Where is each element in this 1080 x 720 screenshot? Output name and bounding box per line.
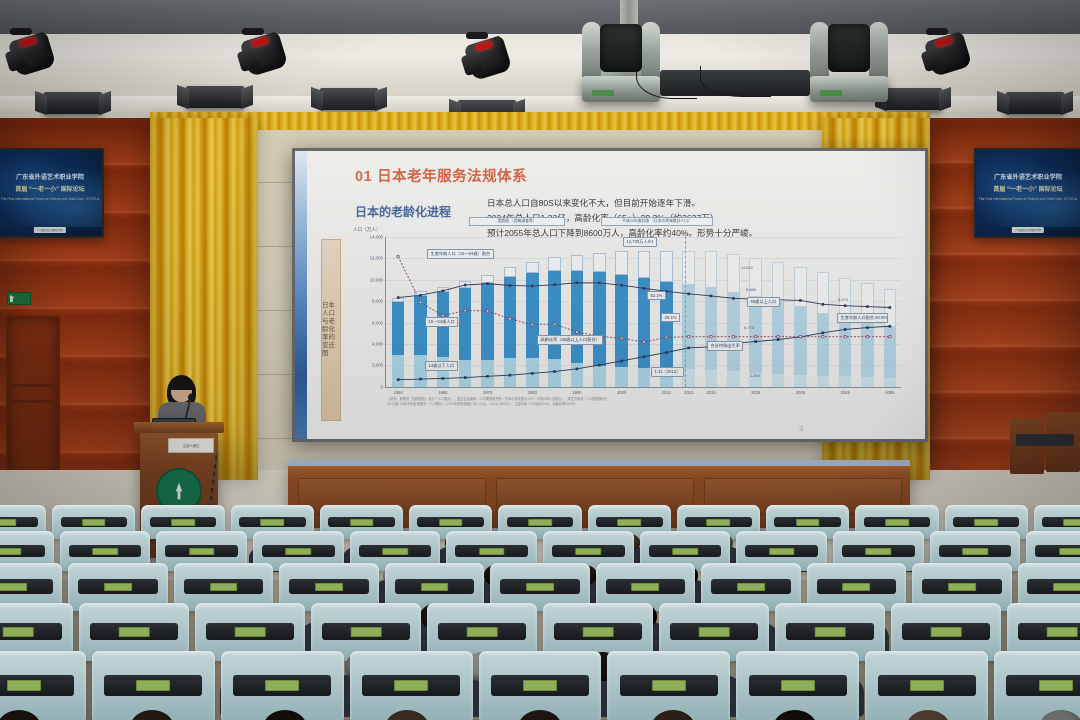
value-total-population: 12,730万人※1 [623,237,657,247]
seat-number-plate [265,680,299,691]
chart-data-point [821,335,824,338]
y-tick: 12,000 [351,256,383,261]
chart-y-axis-label: 人口（万人） [353,227,381,233]
seat-number-plate [171,519,195,525]
seat-number-plate [286,548,312,555]
chart-data-point [844,304,847,307]
x-tick: 1970 [483,390,492,395]
chart-data-point [821,332,824,335]
chart-data-point [598,282,601,285]
chart-data-point [643,355,646,358]
seat-number-plate [523,680,557,691]
seat-number-plate [931,627,962,637]
chart-data-point [665,351,668,354]
slide-subtitle: 日本的老龄化进程 [355,203,451,220]
stage-spotlight [238,28,290,84]
chart-data-point [732,335,735,338]
seat-number-plate [92,548,118,555]
chart-data-point [464,309,467,312]
chart-data-point [397,255,400,258]
value-working-ratio-2055: 生産年齢人口割合 50.9% [837,313,888,323]
seat-number-plate [0,519,16,525]
seat-number-plate [260,519,284,525]
seat-number-plate [315,583,343,591]
chart-data-point [419,294,422,297]
chart-data-point [643,287,646,290]
barn-door-light [186,86,244,108]
curtain-valance [150,112,930,130]
seat-number-plate [189,548,215,555]
y-tick: 8,000 [351,299,383,304]
x-tick: 2035 [796,390,805,395]
exit-sign-icon [7,292,31,305]
x-tick: 2025 [751,390,760,395]
chart-data-point [598,364,601,367]
seat-number-plate [104,583,132,591]
chart-data-point [754,340,757,343]
slide-accent-bar [295,151,307,439]
chart-data-point [442,377,445,380]
callout-under14-pop: 14歳以下人口 [425,361,458,371]
bracket-actual: 実績値 （国勢調査等） [469,217,565,226]
x-tick: 1960 [438,390,447,395]
seat-number-plate [467,627,498,637]
seat-number-plate [0,548,21,555]
side-display-left[interactable]: 广东省外语艺术职业学院 首届 “一老一小” 国际论坛 The First Int… [0,148,104,238]
chart-data-point [777,338,780,341]
auditorium-scene: 广东省外语艺术职业学院 首届 “一老一小” 国际论坛 The First Int… [0,0,1080,720]
chart-series-line [398,257,890,342]
chart-data-point [553,283,556,286]
chart-data-point [486,375,489,378]
chart-data-point [442,290,445,293]
seat-number-plate [439,519,463,525]
seat-number-plate [974,519,998,525]
population-chart: 人口（万人） 14,000 12,000 10,000 8,000 6,000 … [351,231,907,427]
display-english-title: The First International Forum on Elderly… [0,197,102,201]
seat-number-plate [948,583,976,591]
barn-door-light [320,88,378,110]
side-chair [1010,418,1044,474]
chart-data-point [799,335,802,338]
seat-number-plate [350,519,374,525]
x-tick: 2055 [885,390,894,395]
seat-number-plate [699,627,730,637]
x-tick: 1980 [528,390,537,395]
chart-data-point [531,323,534,326]
value-6773: 6,773 [744,325,754,330]
seat-number-plate [526,583,554,591]
chart-data-point [397,296,400,299]
seat-number-plate [1059,548,1080,555]
seat-number-plate [1039,680,1073,691]
chart-data-point [397,378,400,381]
display-title: 广东省外语艺术职业学院 [0,172,102,181]
seat-number-plate [672,548,698,555]
slide-title: 01日本老年服务法规体系 [355,165,527,186]
display-badge: 广东省外语艺术职业学院 [34,227,66,233]
side-table [1016,434,1074,446]
footnote-line: ※1 出典 平成25年度 総務省「人口推計」（2010年国勢調査においては、人口… [387,402,609,407]
seat-number-plate [781,680,815,691]
chart-data-point [620,284,623,287]
seat-number-plate [1064,519,1080,525]
seat-number-plate [737,583,765,591]
body-line: 日本总人口自80S以来变化不大，但目前开始逐年下滑。 [487,196,757,211]
side-door[interactable] [6,316,60,488]
chart-data-point [889,335,892,338]
seat-number-plate [7,680,41,691]
seat-number-plate [421,583,449,591]
seat-number-plate [866,548,892,555]
chart-data-point [553,323,556,326]
chart-data-point [844,328,847,331]
chart-data-point [710,335,713,338]
chart-data-point [665,336,668,339]
seat-number-plate [3,627,34,637]
chart-data-point [799,299,802,302]
chart-data-point [889,306,892,309]
barn-door-light [884,88,942,110]
vertical-caption-text: 日本人口与老龄化率的变迁图 [322,302,340,357]
x-tick: 2013 [684,390,693,395]
seat-number-plate [815,627,846,637]
seat-number-plate [707,519,731,525]
chart-data-point [866,326,869,329]
seat-number-plate [1047,627,1078,637]
display-title: 广东省外语艺术职业学院 [976,172,1080,181]
callout-fertility-rate: 合計特殊出生率 [707,341,743,351]
chart-data-point [732,297,735,300]
x-tick: 1950 [394,390,403,395]
callout-aging-rate: 高齢化率（65歳以上人口割合） [537,335,603,345]
y-tick: 10,000 [351,277,383,282]
chart-data-point [866,305,869,308]
chart-data-point [576,368,579,371]
chart-data-point [464,376,467,379]
podium-nameplate: 主讲人席位 [168,438,214,453]
display-english-title: The First International Forum on Elderly… [976,197,1080,201]
value-8674: 8,674 [838,297,848,302]
chart-data-point [710,295,713,298]
seat-number-plate [479,548,505,555]
projection-screen[interactable]: 01日本老年服务法规体系 日本的老龄化进程 日本总人口自80S以来变化不大，但目… [292,148,928,442]
value-fertility-2012: 1.41（2012） [651,367,684,377]
chart-data-point [419,301,422,304]
x-tick: 2010 [662,390,671,395]
slide-page-number: 3 [799,426,803,433]
seat-number-plate [351,627,382,637]
chart-data-point [531,372,534,375]
chart-data-point [821,303,824,306]
value-5680: 5,680 [746,287,756,292]
chart-data-point [486,310,489,313]
y-tick: 0 [351,385,383,390]
audience-seat[interactable] [994,651,1080,720]
chart-data-point [620,337,623,340]
y-tick: 4,000 [351,342,383,347]
y-tick: 2,000 [351,363,383,368]
seat-number-plate [528,519,552,525]
seat-number-plate [885,519,909,525]
y-tick: 6,000 [351,320,383,325]
slide-title-text: 日本老年服务法规体系 [377,169,527,185]
chart-data-point [620,360,623,363]
chart-data-point [687,335,690,338]
callout-over65-pop: 65歳以上人口 [747,297,780,307]
seat-number-plate [235,627,266,637]
audience-seating [0,505,1080,720]
chart-data-point [576,331,579,334]
chart-data-point [889,325,892,328]
value-working-ratio: 62.1% [647,291,666,300]
forecast-divider [685,231,687,387]
display-badge: 广东省外语艺术职业学院 [1012,227,1044,233]
chart-data-point [576,281,579,284]
value-aging-rate: 26.1% [661,313,680,322]
chart-data-point [531,285,534,288]
chart-data-point [464,284,467,287]
seat-number-plate [119,627,150,637]
seat-number-plate [632,583,660,591]
barn-door-light [1006,92,1064,114]
seat-number-plate [617,519,641,525]
display-forum-name: 首届 “一老一小” 国际论坛 [976,184,1080,193]
chart-series-line [398,326,890,379]
chart-data-point [509,284,512,287]
seat-number-plate [576,548,602,555]
chart-data-point [643,341,646,344]
x-tick: 1990 [572,390,581,395]
seat-number-plate [910,680,944,691]
value-11662: 11,662 [741,265,753,270]
chart-data-point [777,335,780,338]
chart-data-point [509,374,512,377]
chart-lines [387,237,901,387]
display-forum-name: 首届 “一老一小” 国际论坛 [0,184,102,193]
x-tick: 2000 [617,390,626,395]
chart-data-point [486,282,489,285]
seat-number-plate [210,583,238,591]
value-1204: 1,204 [750,373,760,378]
chart-footnotes: （資料）総務省「国勢調査」及び「人口推計」、国立社会保障・人口問題研究所「日本の… [387,397,609,407]
ceiling-beam [0,0,1080,34]
seat-number-plate [842,583,870,591]
seat-number-plate [583,627,614,637]
side-display-right[interactable]: 广东省外语艺术职业学院 首届 “一老一小” 国际论坛 The First Int… [974,148,1080,238]
slide-section-number: 01 [355,169,372,185]
seat-number-plate [82,519,106,525]
chart-data-point [754,335,757,338]
x-tick: 2045 [840,390,849,395]
chart-data-point [509,317,512,320]
stage-spotlight [922,28,974,84]
chart-data-point [687,293,690,296]
slide-vertical-caption: 日本人口与老龄化率的变迁图 [321,239,341,421]
chart-data-point [553,370,556,373]
moving-head-light [806,12,892,118]
bracket-forecast: 平成24年推計値 （日本の将来推計人口） [601,217,713,226]
barn-door-light [44,92,102,114]
stage-spotlight [6,28,58,84]
seat-number-plate [652,680,686,691]
chart-data-point [419,378,422,381]
seat-number-plate [136,680,170,691]
seat-number-plate [382,548,408,555]
presentation-slide: 01日本老年服务法规体系 日本的老龄化进程 日本总人口自80S以来变化不大，但目… [295,151,925,439]
chart-series-line [398,283,890,308]
seat-number-plate [1053,583,1080,591]
chart-data-point [844,335,847,338]
stage-spotlight [462,32,514,88]
seat-number-plate [962,548,988,555]
seat-number-plate [394,680,428,691]
seat-number-plate [796,519,820,525]
callout-working-age-pop: 15－64歳人口 [425,317,458,327]
seat-number-plate [769,548,795,555]
chart-data-point [866,335,869,338]
y-tick: 14,000 [351,235,383,240]
seat-number-plate [0,583,27,591]
x-tick: 2015 [706,390,715,395]
chart-data-point [687,347,690,350]
callout-working-age-ratio: 生産年齢人口（15～64歳）割合 [427,249,494,259]
